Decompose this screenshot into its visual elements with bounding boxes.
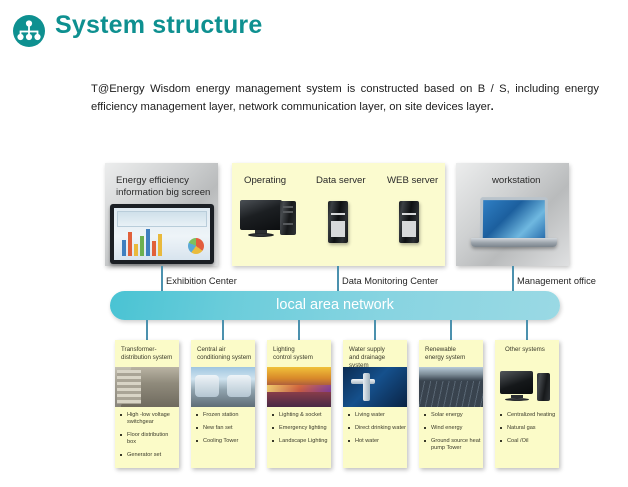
- connector-card-2: [222, 320, 224, 340]
- list-item: High -low voltage switchgear: [120, 412, 178, 426]
- big-screen-display-icon: [110, 204, 214, 264]
- architecture-diagram: Energy efficiency information big screen…: [0, 0, 628, 487]
- local-area-network-label: local area network: [110, 291, 560, 320]
- list-item: Centralized heating: [500, 412, 558, 419]
- big-screen-label-line1: Energy efficiency: [116, 175, 216, 187]
- card-title-line2: control system: [273, 354, 329, 362]
- connector-label-exhibition: Exhibition Center: [166, 276, 237, 286]
- list-item: Lighting & socket: [272, 412, 330, 419]
- desktop-pc-photo: [495, 367, 559, 407]
- card-title-line1: Water supply: [349, 346, 405, 354]
- list-item: Landscape Lighting: [272, 438, 330, 445]
- connector-card-1: [146, 320, 148, 340]
- list-item: Wind energy: [424, 425, 482, 432]
- data-server-icon: [328, 201, 348, 243]
- card-title-line2: distribution system: [121, 354, 177, 362]
- list-item: Frozen station: [196, 412, 254, 419]
- data-server-label: Data server: [316, 175, 366, 187]
- card-other-systems[interactable]: Other systems Centralized heating Natura…: [495, 340, 559, 468]
- connector-label-data-monitoring: Data Monitoring Center: [342, 276, 438, 286]
- list-item: Ground source heat pump Tower: [424, 438, 482, 452]
- local-area-network-bar: local area network: [110, 291, 560, 320]
- card-title-line2: conditioning system: [197, 354, 253, 362]
- data-monitoring-center-box: Operating Data server WEB server: [232, 163, 445, 266]
- card-feature-list: Lighting & socket Emergency lighting Lan…: [272, 412, 330, 451]
- connector-label-management-office: Management office: [517, 276, 596, 286]
- faucet-photo: [343, 367, 407, 407]
- workstation-box: workstation: [456, 163, 569, 266]
- card-water-supply-drainage-system[interactable]: Water supply and drainage system Living …: [343, 340, 407, 468]
- list-item: Coal /Oil: [500, 438, 558, 445]
- card-feature-list: Centralized heating Natural gas Coal /Oi…: [500, 412, 558, 451]
- card-title-line1: Central air: [197, 346, 253, 354]
- connector-card-6: [526, 320, 528, 340]
- list-item: Generator set: [120, 452, 178, 459]
- card-title: Renewable energy system: [425, 346, 481, 362]
- list-item: Solar energy: [424, 412, 482, 419]
- connector-card-3: [298, 320, 300, 340]
- connector-data-monitoring: [337, 266, 339, 291]
- card-feature-list: Frozen station New fan set Cooling Tower: [196, 412, 254, 451]
- list-item: New fan set: [196, 425, 254, 432]
- card-feature-list: High -low voltage switchgear Floor distr…: [120, 412, 178, 465]
- card-title-line1: Lighting: [273, 346, 329, 354]
- big-screen-label-line2: information big screen: [116, 187, 216, 199]
- card-central-air-conditioning-system[interactable]: Central air conditioning system Frozen s…: [191, 340, 255, 468]
- card-title-line1: Renewable: [425, 346, 481, 354]
- workstation-label: workstation: [492, 175, 541, 187]
- list-item: Emergency lighting: [272, 425, 330, 432]
- list-item: Cooling Tower: [196, 438, 254, 445]
- solar-panel-photo: [419, 367, 483, 407]
- list-item: Natural gas: [500, 425, 558, 432]
- chiller-photo: [191, 367, 255, 407]
- card-title-line1: Transformer-: [121, 346, 177, 354]
- card-feature-list: Living water Direct drinking water Hot w…: [348, 412, 406, 451]
- list-item: Floor distribution box: [120, 432, 178, 446]
- operating-label: Operating: [244, 175, 286, 187]
- card-title: Central air conditioning system: [197, 346, 253, 362]
- web-server-label: WEB server: [387, 175, 438, 187]
- exhibition-center-box: Energy efficiency information big screen: [105, 163, 218, 266]
- card-feature-list: Solar energy Wind energy Ground source h…: [424, 412, 482, 458]
- card-renewable-energy-system[interactable]: Renewable energy system Solar energy Win…: [419, 340, 483, 468]
- web-server-icon: [399, 201, 419, 243]
- connector-management-office: [512, 266, 514, 291]
- card-title: Lighting control system: [273, 346, 329, 362]
- connector-card-4: [374, 320, 376, 340]
- big-screen-dashboard: [114, 208, 210, 260]
- card-title: Transformer- distribution system: [121, 346, 177, 362]
- list-item: Living water: [348, 412, 406, 419]
- connector-card-5: [450, 320, 452, 340]
- card-lighting-control-system[interactable]: Lighting control system Lighting & socke…: [267, 340, 331, 468]
- interior-lighting-photo: [267, 367, 331, 407]
- card-title-line2: energy system: [425, 354, 481, 362]
- card-title-line1: Other systems: [505, 346, 561, 354]
- card-transformer-distribution-system[interactable]: Transformer- distribution system High -l…: [115, 340, 179, 468]
- switchgear-photo: [115, 367, 179, 407]
- list-item: Direct drinking water: [348, 425, 406, 432]
- card-title: Other systems: [505, 346, 561, 354]
- list-item: Hot water: [348, 438, 406, 445]
- connector-exhibition: [161, 266, 163, 291]
